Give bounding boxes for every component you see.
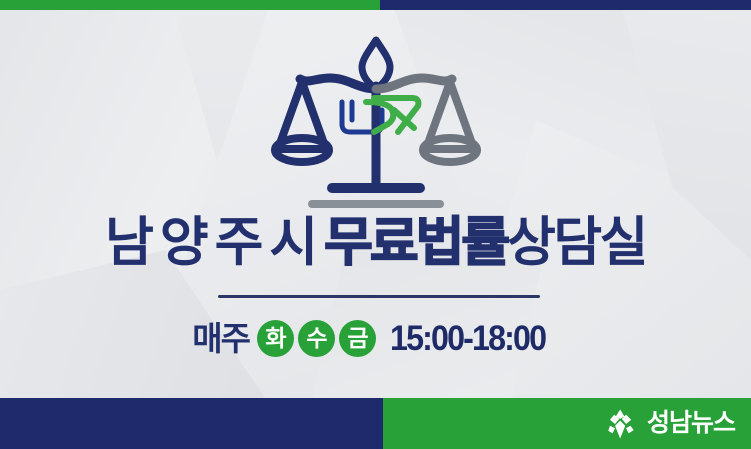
legal-consultation-banner: 남양주시무료법률상담실 매주 화 수 금 15:00-18:00 성남뉴스 xyxy=(0,0,751,449)
headline-part-free-legal: 무료법률 xyxy=(324,213,507,272)
title-divider xyxy=(218,295,540,298)
top-bar-navy-segment xyxy=(380,0,751,10)
page-title: 남양주시무료법률상담실 xyxy=(0,216,751,269)
seongnam-news-logo-icon xyxy=(604,407,638,441)
publisher-watermark: 성남뉴스 xyxy=(604,398,735,449)
publisher-name: 성남뉴스 xyxy=(647,411,735,436)
schedule-prefix-label: 매주 xyxy=(192,322,249,355)
day-chip-wednesday: 수 xyxy=(298,320,335,357)
day-chip-friday: 금 xyxy=(339,320,376,357)
day-chip-tuesday: 화 xyxy=(257,320,294,357)
headline-part-city: 남양주시 xyxy=(105,213,324,272)
schedule-time-range: 15:00-18:00 xyxy=(390,321,545,356)
headline-part-consultation-room: 상담실 xyxy=(507,213,646,272)
schedule-day-chips: 화 수 금 xyxy=(257,320,376,357)
top-accent-bar xyxy=(0,0,751,10)
scales-of-justice-emblem xyxy=(270,36,482,218)
namyangju-city-logo xyxy=(342,98,418,132)
top-bar-green-segment xyxy=(0,0,380,10)
bottom-bar-navy-segment xyxy=(0,398,383,449)
schedule-row: 매주 화 수 금 15:00-18:00 xyxy=(0,320,751,357)
